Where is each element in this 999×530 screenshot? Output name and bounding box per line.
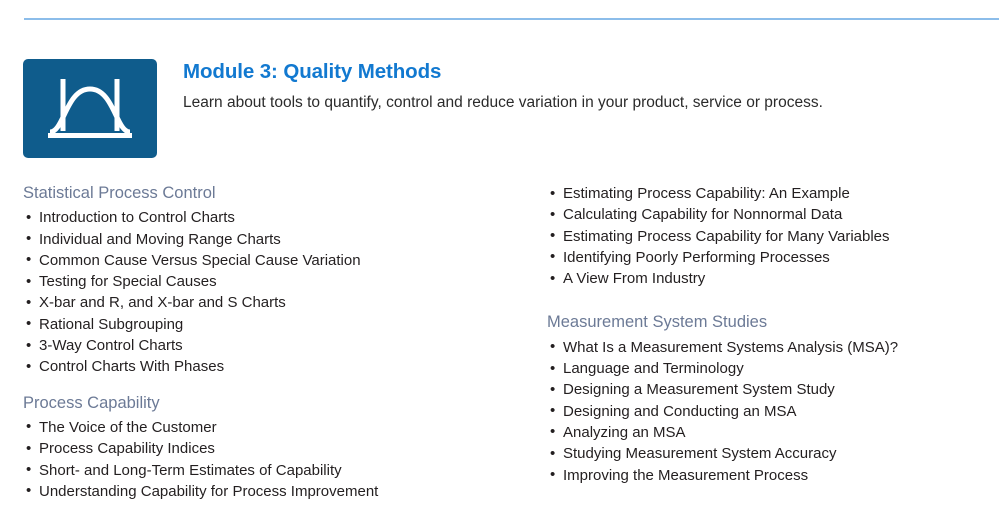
section-heading: Process Capability xyxy=(23,392,523,414)
list-item[interactable]: Short- and Long-Term Estimates of Capabi… xyxy=(23,460,523,481)
section-heading: Statistical Process Control xyxy=(23,182,523,204)
list-item[interactable]: Common Cause Versus Special Cause Variat… xyxy=(23,250,523,271)
topic-column-left: Statistical Process ControlIntroduction … xyxy=(23,182,523,502)
section-heading: Measurement System Studies xyxy=(547,311,987,333)
list-item[interactable]: Control Charts With Phases xyxy=(23,356,523,377)
list-item[interactable]: Rational Subgrouping xyxy=(23,314,523,335)
page-title: Module 3: Quality Methods xyxy=(183,60,823,85)
list-item[interactable]: Testing for Special Causes xyxy=(23,271,523,292)
list-item[interactable]: Language and Terminology xyxy=(547,358,987,379)
list-item[interactable]: Estimating Process Capability for Many V… xyxy=(547,226,987,247)
header-text-block: Module 3: Quality Methods Learn about to… xyxy=(183,59,823,115)
list-item[interactable]: Understanding Capability for Process Imp… xyxy=(23,481,523,502)
topic-section-continued: Estimating Process Capability: An Exampl… xyxy=(547,183,987,289)
page-subtitle: Learn about tools to quantify, control a… xyxy=(183,92,823,115)
list-item[interactable]: Process Capability Indices xyxy=(23,438,523,459)
topic-list: Introduction to Control ChartsIndividual… xyxy=(23,207,523,377)
list-item[interactable]: Individual and Moving Range Charts xyxy=(23,229,523,250)
list-item[interactable]: Identifying Poorly Performing Processes xyxy=(547,247,987,268)
module-header: Module 3: Quality Methods Learn about to… xyxy=(23,59,983,158)
topic-section-statistical-process-control: Statistical Process ControlIntroduction … xyxy=(23,182,523,378)
list-item[interactable]: 3-Way Control Charts xyxy=(23,335,523,356)
list-item[interactable]: Improving the Measurement Process xyxy=(547,465,987,486)
list-item[interactable]: X-bar and R, and X-bar and S Charts xyxy=(23,292,523,313)
list-item[interactable]: Designing a Measurement System Study xyxy=(547,379,987,400)
list-item[interactable]: Designing and Conducting an MSA xyxy=(547,401,987,422)
topic-list: What Is a Measurement Systems Analysis (… xyxy=(547,337,987,486)
list-item[interactable]: The Voice of the Customer xyxy=(23,417,523,438)
topic-column-right: Estimating Process Capability: An Exampl… xyxy=(547,182,987,486)
list-item[interactable]: Estimating Process Capability: An Exampl… xyxy=(547,183,987,204)
header-divider-rule xyxy=(24,18,999,20)
topic-list: The Voice of the CustomerProcess Capabil… xyxy=(23,417,523,502)
list-item[interactable]: Calculating Capability for Nonnormal Dat… xyxy=(547,204,987,225)
topic-list: Estimating Process Capability: An Exampl… xyxy=(547,183,987,289)
list-item[interactable]: What Is a Measurement Systems Analysis (… xyxy=(547,337,987,358)
topic-section-measurement-system-studies: Measurement System StudiesWhat Is a Meas… xyxy=(547,311,987,485)
list-item[interactable]: Studying Measurement System Accuracy xyxy=(547,443,987,464)
list-item[interactable]: Introduction to Control Charts xyxy=(23,207,523,228)
topic-section-process-capability: Process CapabilityThe Voice of the Custo… xyxy=(23,392,523,502)
list-item[interactable]: Analyzing an MSA xyxy=(547,422,987,443)
bell-curve-icon xyxy=(23,59,157,158)
list-item[interactable]: A View From Industry xyxy=(547,268,987,289)
